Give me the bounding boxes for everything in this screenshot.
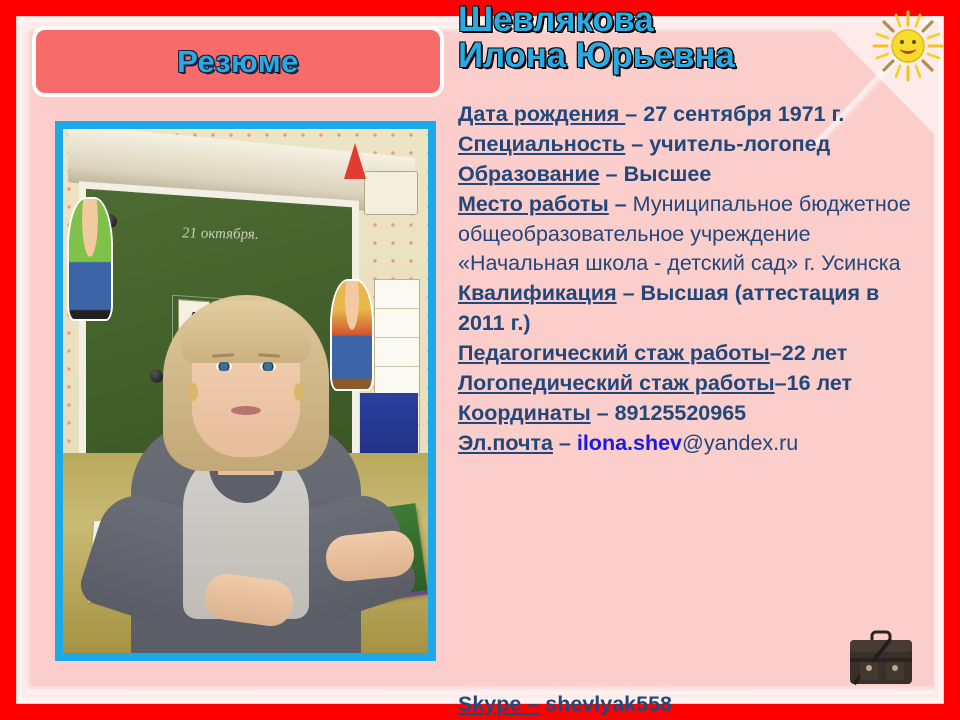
resume-detail-row: Специальность – учитель-логопед (458, 130, 930, 160)
resume-detail-dash: – (600, 162, 624, 186)
skype-value: shevlyak558 (545, 692, 672, 716)
resume-detail-value: 22 лет (782, 341, 847, 365)
person-given-name: Илона Юрьевна (458, 38, 928, 74)
resume-detail-label: Педагогический стаж работы (458, 341, 770, 365)
resume-details-list: Дата рождения – 27 сентября 1971 г.Специ… (458, 100, 930, 459)
resume-detail-value: учитель-логопед (649, 132, 830, 156)
email-label: Эл.почта (458, 431, 553, 455)
resume-detail-row: Координаты – 89125520965 (458, 399, 930, 429)
resume-detail-value: Высшее (624, 162, 712, 186)
resume-detail-dash: – (617, 281, 641, 305)
resume-detail-label: Координаты (458, 401, 591, 425)
resume-detail-row: Образование – Высшее (458, 160, 930, 190)
resume-detail-label: Образование (458, 162, 600, 186)
resume-title-label: Резюме (177, 44, 299, 80)
email-row: Эл.почта – ilona.shev@yandex.ru (458, 429, 930, 459)
resume-detail-dash: – (625, 102, 643, 126)
resume-detail-row: Дата рождения – 27 сентября 1971 г. (458, 100, 930, 130)
email-user[interactable]: ilona.shev (577, 431, 682, 455)
resume-detail-dash: – (625, 132, 649, 156)
resume-detail-label: Место работы (458, 192, 609, 216)
resume-detail-label: Квалификация (458, 281, 617, 305)
resume-detail-dash: – (770, 341, 782, 365)
resume-detail-label: Дата рождения (458, 102, 625, 126)
resume-detail-dash: – (591, 401, 615, 425)
resume-detail-row: Место работы – Муниципальное бюджетное о… (458, 190, 930, 280)
resume-detail-dash: – (609, 192, 633, 216)
resume-detail-value: 89125520965 (615, 401, 747, 425)
chalkboard-date: 21 октября. (182, 225, 259, 243)
email-domain[interactable]: @yandex.ru (682, 431, 798, 455)
resume-detail-row: Педагогический стаж работы–22 лет (458, 339, 930, 369)
resume-detail-label: Логопедический стаж работы (458, 371, 775, 395)
resume-detail-value: 16 лет (787, 371, 852, 395)
resume-detail-dash: – (775, 371, 787, 395)
person-name: Шевлякова Илона Юрьевна (458, 2, 928, 73)
resume-detail-row: Логопедический стаж работы–16 лет (458, 369, 930, 399)
portrait-photo: 21 октября. А О У Ы (55, 121, 436, 661)
resume-title-badge[interactable]: Резюме (36, 30, 440, 93)
resume-detail-label: Специальность (458, 132, 625, 156)
skype-line: Skype – shevlyak558 (458, 692, 928, 717)
resume-detail-value: 27 сентября 1971 г. (643, 102, 844, 126)
email-dash: – (553, 431, 577, 455)
briefcase-icon (846, 628, 916, 690)
slide-root: Резюме (0, 0, 960, 720)
resume-detail-row: Квалификация – Высшая (аттестация в 2011… (458, 279, 930, 339)
person-surname: Шевлякова (458, 2, 928, 38)
skype-label: Skype – (458, 692, 539, 716)
